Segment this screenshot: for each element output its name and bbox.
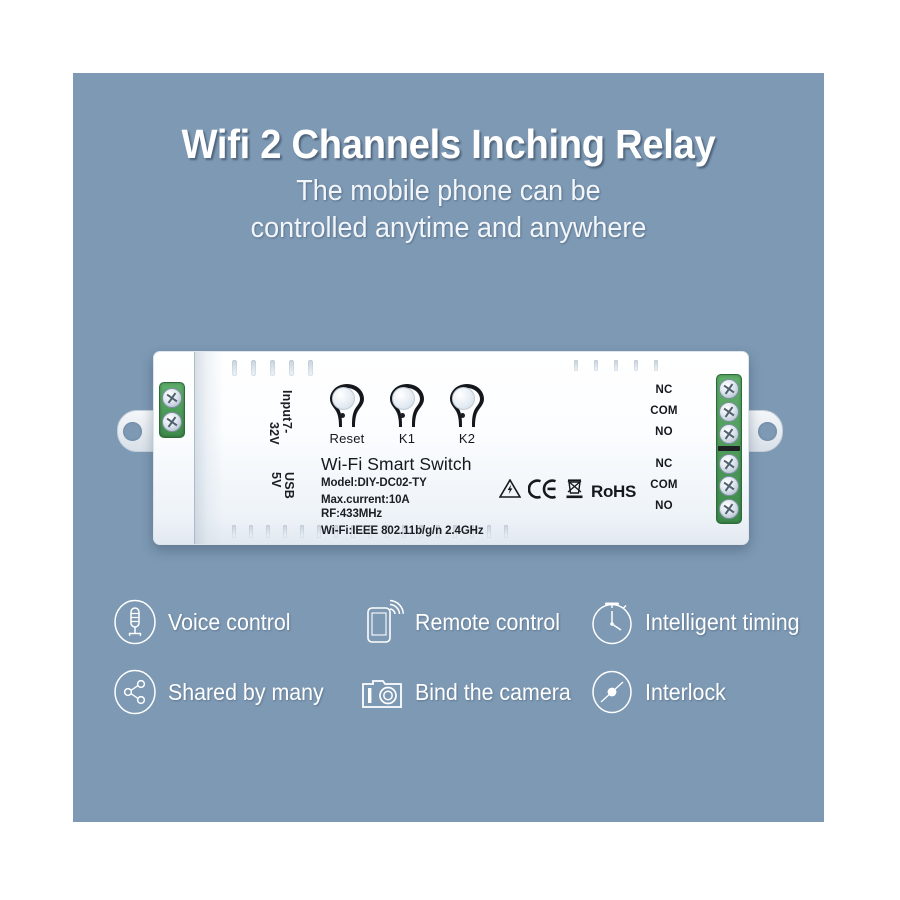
screw-terminal-icon xyxy=(719,499,739,519)
ce-mark-icon xyxy=(528,478,558,505)
enclosure-seam-line xyxy=(194,352,195,544)
feature-row-2: Shared by many Bind the camera xyxy=(73,663,824,721)
warning-triangle-icon xyxy=(499,479,521,504)
phone-wifi-icon xyxy=(358,598,406,646)
button-cap-k1[interactable] xyxy=(392,387,415,410)
button-k2[interactable]: K2 xyxy=(441,382,493,446)
page-title: Wifi 2 Channels Inching Relay xyxy=(99,121,797,168)
terminal-label-nc-2: NC xyxy=(638,454,690,475)
stopwatch-icon xyxy=(588,598,636,646)
vent-slots-top-right xyxy=(574,360,658,371)
terminal-label-no-2: NO xyxy=(638,496,690,517)
terminal-legend-channel-2: NC COM NO xyxy=(638,454,690,517)
feature-label-intelligent-timing: Intelligent timing xyxy=(645,609,800,636)
feature-label-voice-control: Voice control xyxy=(168,609,290,636)
mounting-hole-right-icon xyxy=(758,422,777,441)
vent-slots-top-left xyxy=(232,360,313,376)
screw-terminal-icon xyxy=(719,379,739,399)
vent-slot xyxy=(654,360,658,371)
screw-terminal-icon xyxy=(719,476,739,496)
vent-slot xyxy=(574,360,578,371)
feature-label-interlock: Interlock xyxy=(645,679,726,706)
enclosure-seam-shading xyxy=(194,352,224,544)
certification-marks: RoHS xyxy=(499,478,636,505)
vent-slot xyxy=(634,360,638,371)
vent-slot xyxy=(594,360,598,371)
terminal-label-no-1: NO xyxy=(638,422,690,443)
product-name-print: Wi-Fi Smart Switch xyxy=(321,454,621,475)
wifi-print: Wi-Fi:IEEE 802.11b/g/n 2.4GHz xyxy=(321,524,621,538)
subtitle-line-2: controlled anytime and anywhere xyxy=(99,210,797,247)
vent-slot xyxy=(283,525,287,538)
screw-terminal-icon xyxy=(719,402,739,422)
feature-shared-by-many: Shared by many xyxy=(111,668,335,716)
terminal-block-right xyxy=(716,374,742,524)
button-cap-reset[interactable] xyxy=(332,387,355,410)
feature-row-1: Voice control Remote control xyxy=(73,593,824,651)
terminal-block-left xyxy=(159,382,185,438)
page-subtitle: The mobile phone can be controlled anyti… xyxy=(99,173,797,247)
terminal-label-com-1: COM xyxy=(638,401,690,422)
vent-slot xyxy=(300,525,304,538)
screw-terminal-icon xyxy=(719,454,739,474)
usb-voltage-label: USB 5V xyxy=(269,472,295,499)
screw-terminal-icon xyxy=(162,388,182,408)
vent-slot xyxy=(266,525,270,538)
terminal-block-divider xyxy=(718,446,740,451)
button-k1[interactable]: K1 xyxy=(381,382,433,446)
terminal-legend-channel-1: NC COM NO xyxy=(638,380,690,443)
vent-slot xyxy=(308,360,313,376)
input-voltage-label: Input7-32V xyxy=(265,390,293,444)
vent-slot xyxy=(232,360,237,376)
button-label-k2: K2 xyxy=(441,431,493,446)
interlock-icon xyxy=(588,668,636,716)
vent-slot xyxy=(232,525,236,538)
rf-print: RF:433MHz xyxy=(321,507,621,521)
subtitle-line-1: The mobile phone can be xyxy=(99,173,797,210)
feature-label-bind-the-camera: Bind the camera xyxy=(415,679,571,706)
led-indicator-k2-icon xyxy=(460,413,465,418)
screw-terminal-icon xyxy=(719,424,739,444)
feature-bind-the-camera: Bind the camera xyxy=(358,668,582,716)
vent-slot xyxy=(249,525,253,538)
product-device: Input7-32V USB 5V Reset xyxy=(125,333,775,553)
led-indicator-reset-icon xyxy=(340,413,345,418)
feature-voice-control: Voice control xyxy=(111,598,300,646)
terminal-legend: NC COM NO NC COM NO xyxy=(638,380,690,528)
feature-label-remote-control: Remote control xyxy=(415,609,560,636)
terminal-label-nc-1: NC xyxy=(638,380,690,401)
button-label-reset: Reset xyxy=(321,431,373,446)
feature-interlock: Interlock xyxy=(588,668,732,716)
button-label-k1: K1 xyxy=(381,431,433,446)
rohs-mark: RoHS xyxy=(591,482,636,502)
share-nodes-icon xyxy=(111,668,159,716)
vent-slot xyxy=(289,360,294,376)
camera-icon xyxy=(358,668,406,716)
mounting-hole-left-icon xyxy=(123,422,142,441)
feature-label-shared-by-many: Shared by many xyxy=(168,679,324,706)
feature-intelligent-timing: Intelligent timing xyxy=(588,598,811,646)
button-row: Reset K1 xyxy=(321,382,511,452)
product-marketing-image: Wifi 2 Channels Inching Relay The mobile… xyxy=(0,0,900,900)
button-reset[interactable]: Reset xyxy=(321,382,373,446)
button-cap-k2[interactable] xyxy=(452,387,475,410)
weee-bin-icon xyxy=(565,478,584,505)
microphone-icon xyxy=(111,598,159,646)
promo-panel: Wifi 2 Channels Inching Relay The mobile… xyxy=(73,73,824,822)
vent-slot xyxy=(251,360,256,376)
led-indicator-k1-icon xyxy=(400,413,405,418)
vent-slot xyxy=(270,360,275,376)
device-enclosure: Input7-32V USB 5V Reset xyxy=(153,351,749,545)
feature-remote-control: Remote control xyxy=(358,598,571,646)
screw-terminal-icon xyxy=(162,412,182,432)
terminal-label-com-2: COM xyxy=(638,475,690,496)
vent-slot xyxy=(614,360,618,371)
